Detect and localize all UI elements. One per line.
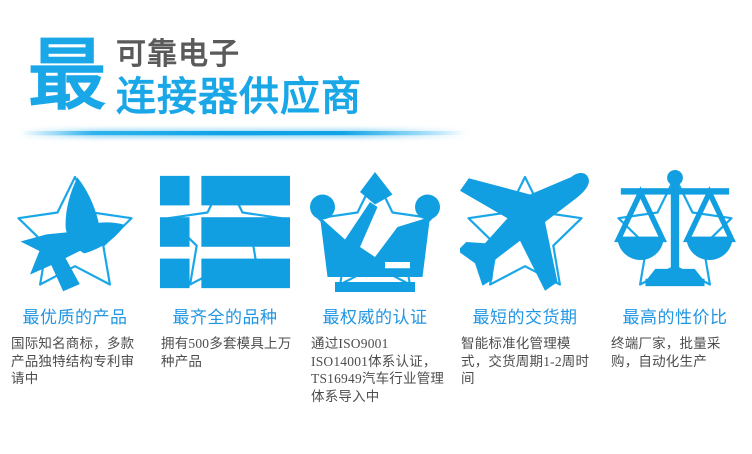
star-badge (610, 168, 740, 296)
balance-scale-icon (610, 168, 740, 296)
list-grid-icon (160, 168, 290, 296)
star-badge (160, 168, 290, 296)
feature-description: 终端厂家，批量采购，自动化生产 (605, 335, 745, 370)
section-divider (0, 126, 500, 142)
feature-description: 拥有500多套模具上万种产品 (155, 335, 295, 370)
feature-item: 最短的交货期 智能标准化管理模式，交货周期1-2周时间 (450, 168, 600, 405)
headline-big-character: 最 (28, 36, 106, 114)
feature-title: 最权威的认证 (323, 308, 428, 328)
feature-title: 最优质的产品 (23, 308, 128, 328)
divider-hairline (30, 135, 450, 136)
feature-item: 最齐全的品种 拥有500多套模具上万种产品 (150, 168, 300, 405)
feature-description: 国际知名商标，多款产品独特结构专利审请中 (5, 335, 145, 388)
feature-title: 最高的性价比 (623, 308, 728, 328)
star-badge (460, 168, 590, 296)
feature-list: 最优质的产品 国际知名商标，多款产品独特结构专利审请中 (0, 168, 752, 405)
star-badge (310, 168, 440, 296)
feature-description: 智能标准化管理模式，交货周期1-2周时间 (455, 335, 595, 388)
feature-title: 最齐全的品种 (173, 308, 278, 328)
star-badge (10, 168, 140, 296)
headline-line-1: 可靠电子 (116, 38, 362, 72)
headline-block: 最 可靠电子 连接器供应商 (28, 34, 362, 120)
award-ribbon-icon (10, 168, 140, 296)
feature-title: 最短的交货期 (473, 308, 578, 328)
promo-banner: 最 可靠电子 连接器供应商 (0, 0, 752, 454)
crown-icon (310, 168, 440, 296)
feature-item: 最高的性价比 终端厂家，批量采购，自动化生产 (600, 168, 750, 405)
feature-description: 通过ISO9001 ISO14001体系认证，TS16949汽车行业管理体系导入… (305, 335, 445, 405)
headline-line-2: 连接器供应商 (116, 74, 362, 120)
headline-text-lines: 可靠电子 连接器供应商 (116, 34, 362, 120)
feature-item: 最优质的产品 国际知名商标，多款产品独特结构专利审请中 (0, 168, 150, 405)
feature-item: 最权威的认证 通过ISO9001 ISO14001体系认证，TS16949汽车行… (300, 168, 450, 405)
airplane-icon (460, 168, 590, 296)
